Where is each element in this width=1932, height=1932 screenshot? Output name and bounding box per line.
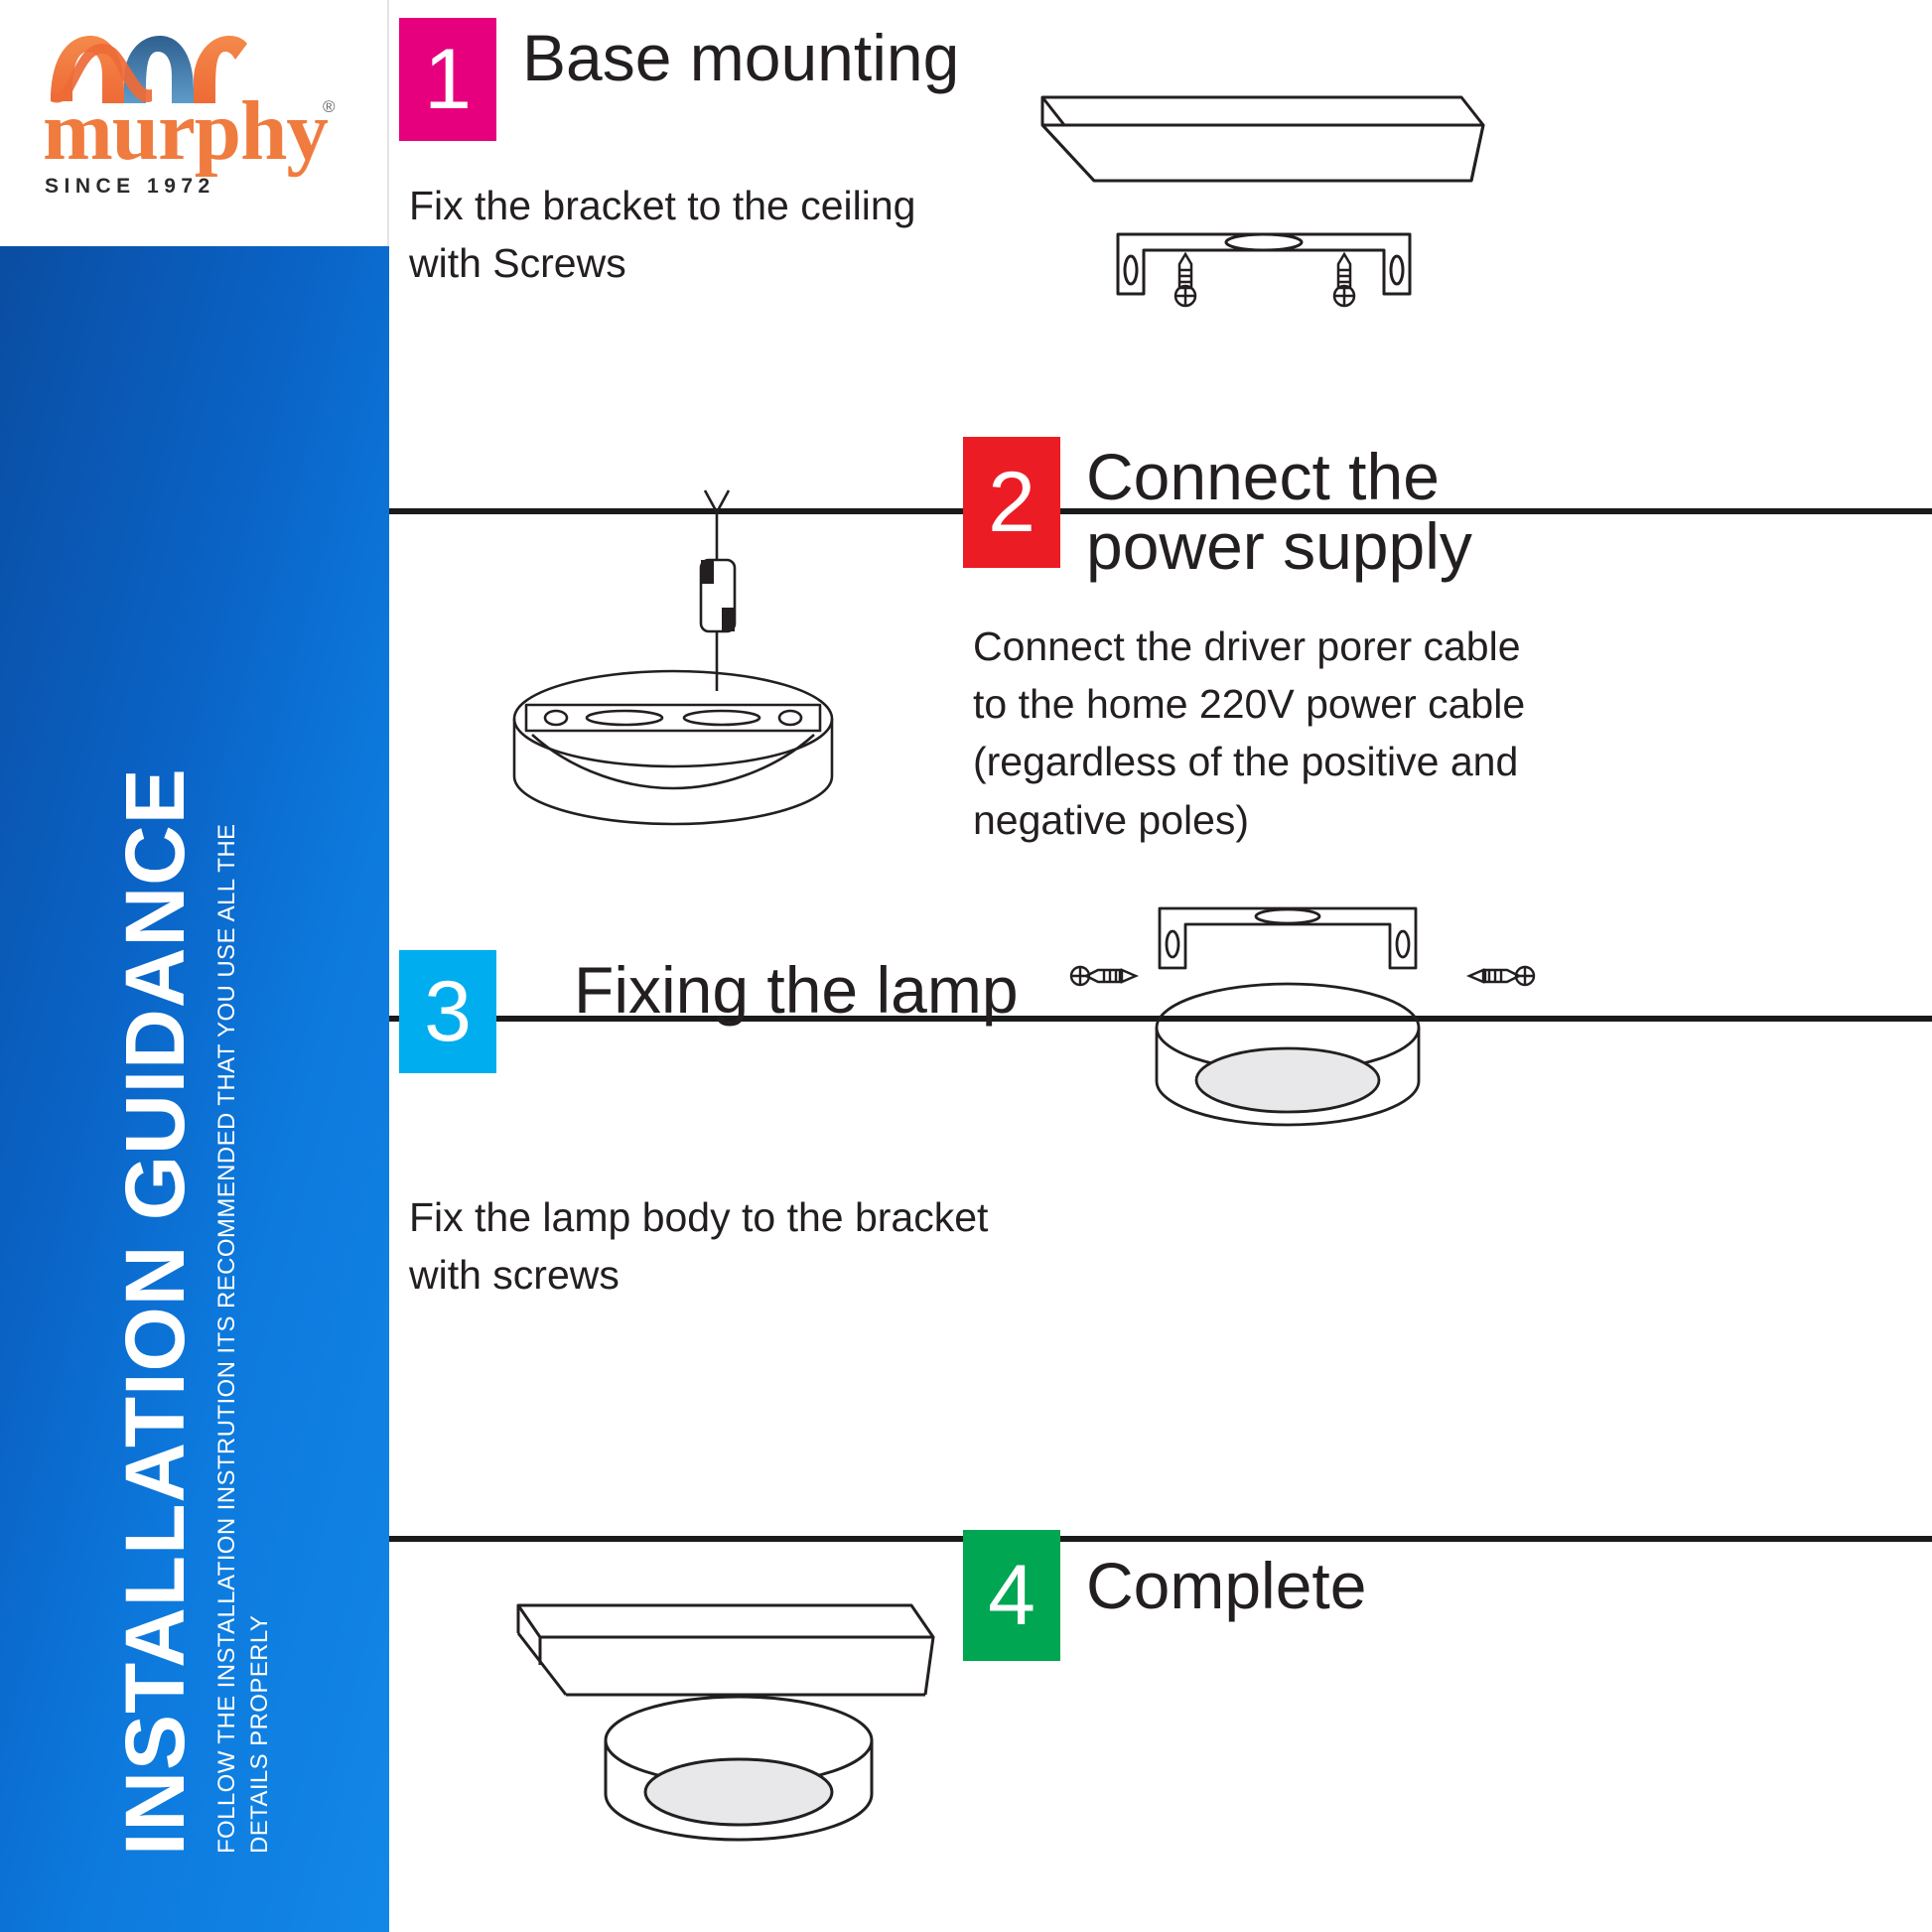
- installation-guidance-poster: murphy ® SINCE 1972 INSTALLATION GUIDANC…: [0, 0, 1932, 1932]
- completed-ceiling-lamp-diagram-icon: [479, 1546, 995, 1923]
- registered-trademark-icon: ®: [323, 97, 336, 117]
- step-3-text: 3 Fixing the lamp Fix the lamp body to t…: [399, 950, 1154, 1304]
- step-4: 4 Complete: [389, 1536, 1932, 1932]
- step-1-number-badge: 1: [399, 18, 496, 141]
- step-2-title: Connect the power supply: [1086, 437, 1472, 582]
- step-4-text: 4 Complete: [963, 1530, 1797, 1661]
- step-1: 1 Base mounting Fix the bracket to the c…: [389, 0, 1932, 508]
- step-1-body: Fix the bracket to the ceiling with Scre…: [409, 177, 1094, 292]
- step-3-title: Fixing the lamp: [574, 950, 1019, 1026]
- step-1-text: 1 Base mounting Fix the bracket to the c…: [399, 18, 1094, 292]
- lamp-body-with-driver-cable-diagram-icon: [479, 469, 955, 866]
- sidebar-blue-panel: INSTALLATION GUIDANCE FOLLOW THE INSTALL…: [0, 246, 389, 1932]
- step-2-text: 2 Connect the power supply Connect the d…: [963, 437, 1896, 849]
- step-3-number-badge: 3: [399, 950, 496, 1073]
- step-4-illustration: [479, 1546, 995, 1923]
- step-3-illustration: [1064, 877, 1541, 1234]
- step-1-title: Base mounting: [522, 18, 959, 93]
- brand-tagline: SINCE 1972: [45, 175, 215, 199]
- step-2-body: Connect the driver porer cable to the ho…: [973, 618, 1896, 849]
- lamp-fixed-to-bracket-with-side-screws-diagram-icon: [1064, 877, 1541, 1234]
- step-3: 3 Fixing the lamp Fix the lamp body to t…: [389, 1016, 1932, 1536]
- step-2-illustration: [479, 469, 955, 866]
- sidebar-title: INSTALLATION GUIDANCE: [113, 315, 197, 1863]
- brand-logo-box: murphy ® SINCE 1972: [0, 0, 389, 246]
- ceiling-plate-and-bracket-with-screws-diagram-icon: [1035, 40, 1511, 318]
- sidebar-rotated-text: INSTALLATION GUIDANCE FOLLOW THE INSTALL…: [46, 315, 344, 1863]
- brand-wordmark: murphy: [43, 89, 328, 174]
- steps-column: 1 Base mounting Fix the bracket to the c…: [389, 0, 1932, 1932]
- sidebar-subtitle: FOLLOW THE INSTALLATION INSTRUTION ITS R…: [210, 771, 276, 1863]
- step-1-illustration: [1035, 40, 1511, 318]
- step-4-title: Complete: [1086, 1530, 1366, 1621]
- step-2-number-badge: 2: [963, 437, 1060, 568]
- step-3-body: Fix the lamp body to the bracket with sc…: [409, 1188, 1154, 1304]
- left-column: murphy ® SINCE 1972 INSTALLATION GUIDANC…: [0, 0, 389, 1932]
